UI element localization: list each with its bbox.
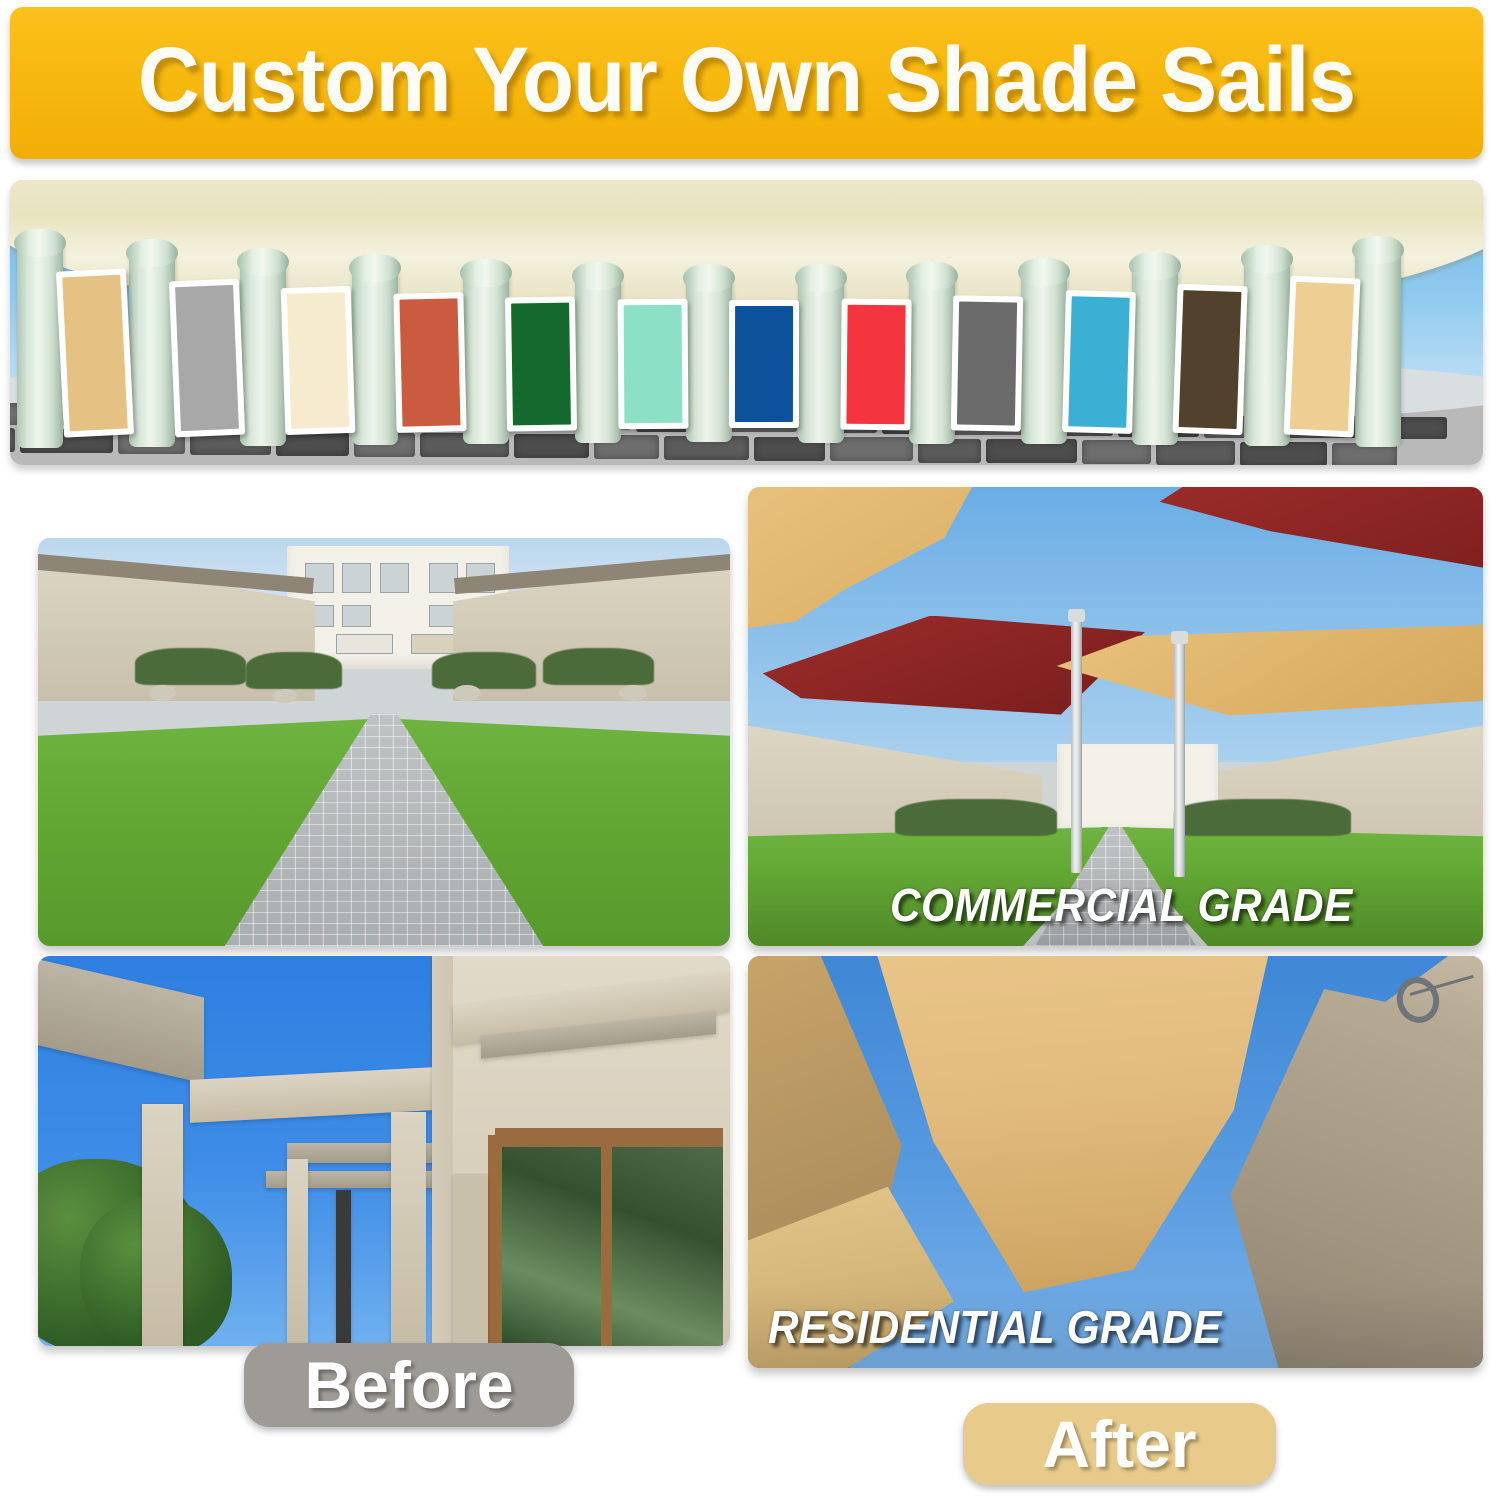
color-swatch-royal-blue[interactable] <box>729 300 799 428</box>
after-badge-label: After <box>1042 1411 1196 1477</box>
color-swatch-fill <box>957 301 1017 425</box>
stone-block <box>10 428 15 452</box>
residential-grade-photo: RESIDENTIAL GRADE <box>748 956 1483 1368</box>
column-capital <box>572 262 624 290</box>
color-swatch-fill <box>175 285 238 431</box>
support-pole <box>1071 616 1082 873</box>
column-capital <box>1129 252 1181 280</box>
color-swatch-fill <box>1289 282 1353 431</box>
column-capital <box>906 262 958 290</box>
after-badge: After <box>963 1403 1276 1485</box>
commercial-grade-photo: COMMERCIAL GRADE <box>748 487 1483 946</box>
colonnade-column <box>463 273 509 444</box>
colonnade-column <box>686 278 732 442</box>
colonnade-column <box>1244 259 1290 446</box>
column-capital <box>1241 245 1293 273</box>
color-swatch-fill <box>846 305 905 425</box>
color-swatch-fill <box>511 303 570 426</box>
commercial-grade-label: COMMERCIAL GRADE <box>890 878 1353 932</box>
color-swatch-grey[interactable] <box>168 278 244 436</box>
column-capital <box>126 239 178 267</box>
color-swatch-turquoise[interactable] <box>1062 290 1135 433</box>
color-swatch-fill <box>62 275 127 432</box>
colonnade-column <box>240 262 286 446</box>
color-swatch-mint[interactable] <box>617 299 687 429</box>
color-swatch-panel <box>10 180 1483 465</box>
color-swatch-fill <box>1179 290 1241 429</box>
color-swatch-terracotta[interactable] <box>393 292 466 433</box>
color-swatch-fill <box>1068 296 1129 427</box>
color-swatch-dark-grey[interactable] <box>951 295 1023 432</box>
column-capital <box>349 254 401 282</box>
colonnade-column <box>1132 266 1178 445</box>
page-title: Custom Your Own Shade Sails <box>138 34 1355 132</box>
residential-grade-label: RESIDENTIAL GRADE <box>768 1300 1222 1354</box>
before-badge-label: Before <box>304 1352 513 1418</box>
pergola-before-photo <box>38 956 730 1346</box>
before-badge: Before <box>244 1343 574 1427</box>
colonnade-column <box>575 276 621 443</box>
support-pole <box>1174 638 1185 877</box>
colonnade-column <box>129 253 175 447</box>
stone-block <box>830 437 913 461</box>
color-swatch-beige[interactable] <box>1283 275 1359 437</box>
column-capital <box>14 229 66 257</box>
colonnade-column <box>352 268 398 445</box>
color-swatch-fill <box>287 292 349 428</box>
column-capital <box>1018 258 1070 286</box>
colonnade-column <box>1021 272 1067 445</box>
column-capital <box>460 259 512 287</box>
stone-block <box>276 432 349 456</box>
column-capital <box>237 248 289 276</box>
color-swatch-fill <box>623 305 681 423</box>
colonnade-column <box>798 278 844 443</box>
color-swatch-fill <box>735 306 793 422</box>
column-capital <box>795 264 847 292</box>
colonnade-column <box>1355 250 1401 447</box>
column-capital <box>683 264 735 292</box>
color-swatch-fill <box>399 298 460 427</box>
color-swatch-sand[interactable] <box>56 269 134 439</box>
color-swatch-dark-green[interactable] <box>505 297 577 432</box>
courtyard-before-photo <box>38 538 730 946</box>
column-capital <box>1352 236 1404 264</box>
color-swatch-red[interactable] <box>840 298 911 430</box>
header-banner: Custom Your Own Shade Sails <box>10 7 1483 159</box>
color-swatch-brown[interactable] <box>1172 284 1247 436</box>
colonnade-column <box>909 276 955 444</box>
color-swatch-ivory[interactable] <box>281 286 355 435</box>
